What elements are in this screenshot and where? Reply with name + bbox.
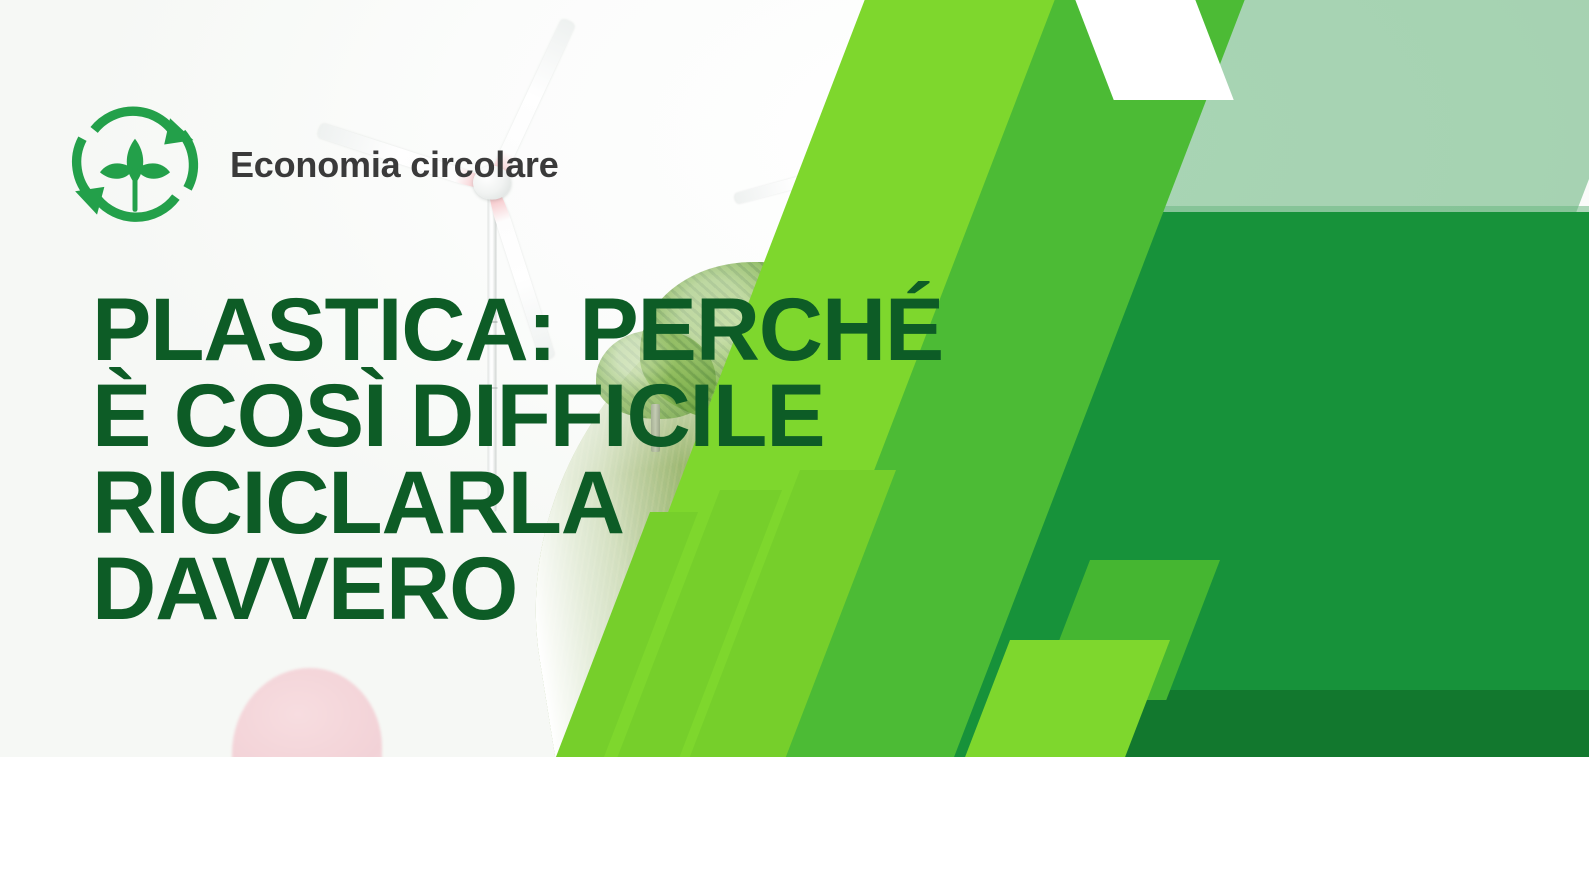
footer-logo-bar: Finanziato dall'Unione europea NextGener… (0, 757, 1589, 893)
page-title: PLASTICA: PERCHÉ È COSÌ DIFFICILE RICICL… (92, 286, 943, 631)
brand-badge: Economia circolare (62, 92, 559, 238)
hero-image-stage: Economia circolare PLASTICA: PERCHÉ È CO… (0, 0, 1589, 757)
title-line-3: RICICLARLA (92, 459, 943, 545)
title-line-4: DAVVERO (92, 545, 943, 631)
recycle-leaf-icon (62, 92, 208, 238)
slide-root: Economia circolare PLASTICA: PERCHÉ È CO… (0, 0, 1589, 893)
wind-turbine-icon (1100, 0, 1110, 440)
turbine-mast (1101, 0, 1110, 440)
tree-trunk (1049, 375, 1060, 431)
brand-label: Economia circolare (230, 144, 559, 186)
title-line-1: PLASTICA: PERCHÉ (92, 286, 943, 372)
turbine-hub (852, 148, 880, 173)
title-line-2: È COSÌ DIFFICILE (92, 372, 943, 458)
